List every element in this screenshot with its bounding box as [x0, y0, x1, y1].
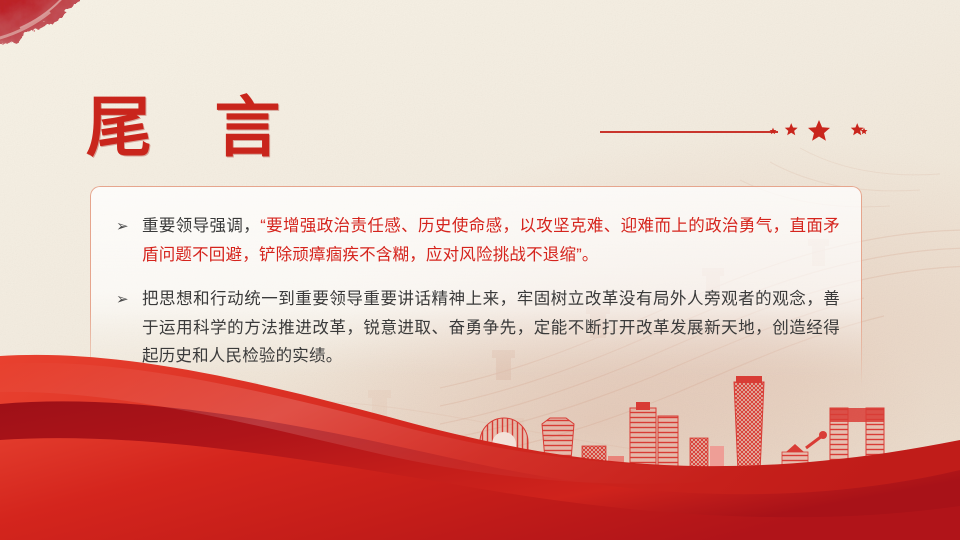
ink-seal-blot	[0, 0, 144, 92]
bullet-arrow-icon: ➢	[116, 213, 129, 241]
bullet-arrow-icon: ➢	[116, 286, 129, 314]
slide-canvas: 尾 言 ➢ 重要领导强调，“要增强政治责任感、历史使命感，以攻坚克难、迎难而上的…	[0, 0, 960, 548]
red-wave-graphic	[0, 320, 960, 540]
list-item: ➢ 重要领导强调，“要增强政治责任感、历史使命感，以攻坚克难、迎难而上的政治勇气…	[116, 212, 840, 269]
bottom-white-strip	[0, 540, 960, 548]
bullet-lead-text: 重要领导强调，	[142, 217, 260, 235]
page-title: 尾 言	[86, 88, 302, 166]
five-stars-decoration	[768, 118, 870, 144]
title-rule	[600, 131, 778, 133]
